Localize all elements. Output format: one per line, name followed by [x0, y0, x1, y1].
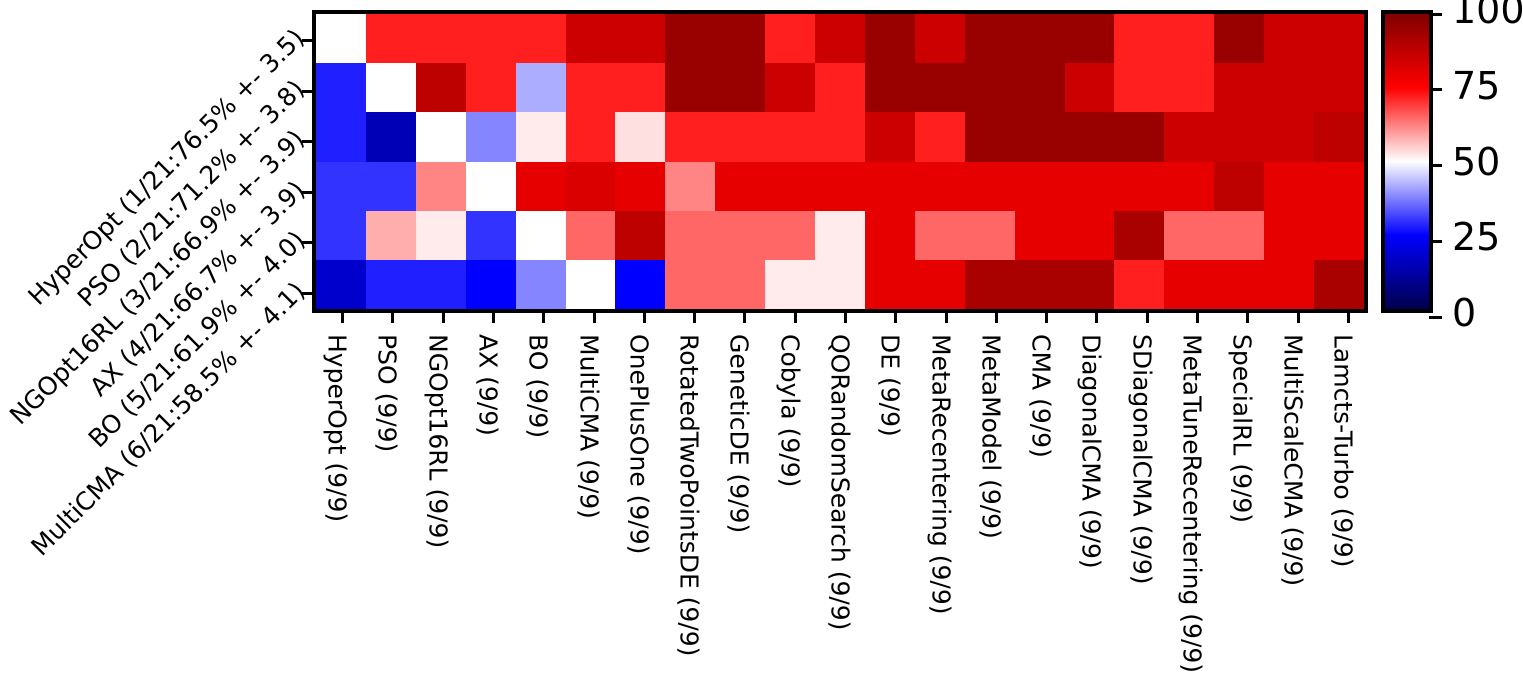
x-axis-tick-label: SpecialRL (9/9) — [1228, 334, 1257, 523]
x-axis-tick-label: OnePlusOne (9/9) — [624, 334, 653, 554]
y-axis-tick — [302, 241, 316, 244]
heatmap-cell — [665, 14, 715, 63]
heatmap-cell — [1164, 112, 1214, 161]
heatmap-cell — [965, 112, 1015, 161]
heatmap-cell — [615, 112, 665, 161]
heatmap-cell — [366, 63, 416, 112]
heatmap-cell — [865, 260, 915, 309]
heatmap-cell — [1314, 63, 1364, 112]
heatmap-cell — [965, 63, 1015, 112]
heatmap-cell — [1264, 112, 1314, 161]
heatmap-cell — [715, 63, 765, 112]
heatmap-cell — [765, 162, 815, 211]
heatmap-cell — [915, 211, 965, 260]
heatmap-cell — [715, 260, 765, 309]
colorbar-tick — [1429, 316, 1442, 319]
heatmap-cell — [1015, 112, 1065, 161]
x-axis-tick-label: DiagonalCMA (9/9) — [1077, 334, 1106, 569]
heatmap-cell — [815, 211, 865, 260]
heatmap-cell — [665, 63, 715, 112]
x-axis-tick-label: Cobyla (9/9) — [775, 334, 804, 487]
heatmap-cell — [1114, 162, 1164, 211]
heatmap-cell — [915, 260, 965, 309]
heatmap-cell — [316, 14, 366, 63]
colorbar-tick-label: 50 — [1452, 143, 1500, 181]
heatmap-cell — [316, 63, 366, 112]
heatmap-cell — [566, 162, 616, 211]
heatmap-cell — [1065, 260, 1115, 309]
y-axis-tick — [302, 191, 316, 194]
heatmap-cell — [366, 211, 416, 260]
heatmap-cell — [1065, 63, 1115, 112]
heatmap-cell — [466, 63, 516, 112]
colorbar-tick-label: 100 — [1452, 0, 1523, 29]
heatmap-cell — [615, 162, 665, 211]
heatmap-cell — [615, 260, 665, 309]
colorbar-tick-label: 0 — [1452, 294, 1476, 332]
heatmap-cell — [1314, 162, 1364, 211]
heatmap-cell — [815, 162, 865, 211]
heatmap-cell — [1015, 162, 1065, 211]
heatmap-cell — [466, 211, 516, 260]
y-axis-tick — [302, 90, 316, 93]
heatmap-cell — [965, 14, 1015, 63]
x-axis-tick-label: BO (9/9) — [524, 334, 553, 438]
heatmap-cell — [1065, 14, 1115, 63]
x-axis-tick-label: AX (9/9) — [474, 334, 503, 436]
heatmap-plot-area — [312, 10, 1368, 313]
heatmap-cell — [865, 63, 915, 112]
x-axis-tick-label: MultiScaleCMA (9/9) — [1278, 334, 1307, 586]
heatmap-cell — [1264, 211, 1314, 260]
heatmap-cell — [466, 112, 516, 161]
x-axis-tick-label: MetaTuneRecentering (9/9) — [1178, 334, 1207, 673]
heatmap-cell — [566, 14, 616, 63]
x-axis-tick-label: GeneticDE (9/9) — [725, 334, 754, 533]
heatmap-cell — [715, 112, 765, 161]
heatmap-cell — [815, 63, 865, 112]
colorbar-tick — [1429, 88, 1442, 91]
heatmap-cell — [1214, 211, 1264, 260]
x-axis-tick-label: MetaModel (9/9) — [976, 334, 1005, 539]
heatmap-cell — [1164, 14, 1214, 63]
x-axis-tick-label: CMA (9/9) — [1027, 334, 1056, 458]
heatmap-cell — [1264, 260, 1314, 309]
heatmap-cell — [1114, 14, 1164, 63]
heatmap-cell — [366, 112, 416, 161]
heatmap-cell — [1164, 260, 1214, 309]
heatmap-cell — [1114, 63, 1164, 112]
heatmap-cell — [1164, 211, 1214, 260]
heatmap-cell — [1164, 63, 1214, 112]
colorbar-tick-label: 75 — [1452, 67, 1500, 105]
heatmap-cell — [665, 162, 715, 211]
colorbar-tick — [1429, 13, 1442, 16]
heatmap-cell — [466, 14, 516, 63]
heatmap-cell — [765, 14, 815, 63]
heatmap-cell — [765, 63, 815, 112]
x-axis-tick-label: RotatedTwoPointsDE (9/9) — [675, 334, 704, 656]
heatmap-cell — [1065, 211, 1115, 260]
heatmap-cell — [615, 14, 665, 63]
heatmap-cell — [1264, 14, 1314, 63]
y-axis-labels: HyperOpt (1/21:76.5% +- 3.5)PSO (2/21:71… — [0, 0, 300, 323]
heatmap-cell — [1214, 14, 1264, 63]
heatmap-cell — [566, 211, 616, 260]
heatmap-cell — [1214, 162, 1264, 211]
heatmap-cell — [815, 14, 865, 63]
x-axis-tick-label: MetaRecentering (9/9) — [926, 334, 955, 614]
heatmap-cell — [965, 162, 1015, 211]
x-axis-tick-label: QORandomSearch (9/9) — [826, 334, 855, 630]
x-axis-tick-label: NGOpt16RL (9/9) — [423, 334, 452, 548]
heatmap-cell — [765, 112, 815, 161]
heatmap-cell — [915, 112, 965, 161]
y-axis-tick — [302, 39, 316, 42]
x-axis-tick-label: HyperOpt (9/9) — [323, 334, 352, 522]
heatmap-cell — [416, 211, 466, 260]
heatmap-cell — [715, 211, 765, 260]
heatmap-cell — [566, 260, 616, 309]
colorbar-tick — [1429, 164, 1442, 167]
heatmap-cell — [416, 63, 466, 112]
heatmap-cell — [1065, 162, 1115, 211]
heatmap-cell — [366, 162, 416, 211]
heatmap-cell — [1164, 162, 1214, 211]
heatmap-cell — [1264, 162, 1314, 211]
heatmap-grid — [316, 14, 1364, 309]
heatmap-cell — [416, 14, 466, 63]
y-axis-tick — [302, 140, 316, 143]
heatmap-cell — [316, 260, 366, 309]
heatmap-cell — [865, 14, 915, 63]
heatmap-cell — [865, 162, 915, 211]
heatmap-cell — [1015, 211, 1065, 260]
heatmap-cell — [316, 211, 366, 260]
heatmap-cell — [1015, 260, 1065, 309]
heatmap-cell — [665, 112, 715, 161]
heatmap-cell — [1314, 260, 1364, 309]
heatmap-cell — [1015, 14, 1065, 63]
x-axis-tick-label: PSO (9/9) — [373, 334, 402, 452]
heatmap-cell — [715, 14, 765, 63]
heatmap-cell — [1114, 260, 1164, 309]
heatmap-cell — [316, 162, 366, 211]
y-axis-tick — [302, 292, 316, 295]
heatmap-cell — [566, 112, 616, 161]
heatmap-cell — [715, 162, 765, 211]
heatmap-cell — [466, 260, 516, 309]
heatmap-cell — [516, 63, 566, 112]
heatmap-cell — [865, 211, 915, 260]
heatmap-cell — [765, 211, 815, 260]
heatmap-cell — [915, 63, 965, 112]
colorbar-tick — [1429, 240, 1442, 243]
x-axis-tick-label: MultiCMA (9/9) — [574, 334, 603, 519]
heatmap-cell — [516, 260, 566, 309]
heatmap-cell — [1314, 211, 1364, 260]
heatmap-cell — [1065, 112, 1115, 161]
heatmap-cell — [516, 14, 566, 63]
heatmap-cell — [366, 14, 416, 63]
heatmap-cell — [1214, 112, 1264, 161]
heatmap-cell — [516, 211, 566, 260]
heatmap-cell — [665, 211, 715, 260]
heatmap-cell — [416, 260, 466, 309]
heatmap-cell — [1015, 63, 1065, 112]
x-axis-tick-label: Lamcts-Turbo (9/9) — [1328, 334, 1357, 567]
heatmap-cell — [516, 112, 566, 161]
heatmap-cell — [1214, 63, 1264, 112]
heatmap-cell — [466, 162, 516, 211]
heatmap-cell — [765, 260, 815, 309]
colorbar-tick-label: 25 — [1452, 218, 1500, 256]
heatmap-cell — [316, 112, 366, 161]
heatmap-cell — [1114, 112, 1164, 161]
heatmap-cell — [915, 14, 965, 63]
heatmap-cell — [366, 260, 416, 309]
heatmap-cell — [416, 112, 466, 161]
heatmap-figure: HyperOpt (1/21:76.5% +- 3.5)PSO (2/21:71… — [0, 0, 1523, 665]
heatmap-cell — [566, 63, 616, 112]
heatmap-cell — [915, 162, 965, 211]
heatmap-cell — [1114, 211, 1164, 260]
heatmap-cell — [865, 112, 915, 161]
heatmap-cell — [1314, 14, 1364, 63]
x-axis-tick-label: DE (9/9) — [876, 334, 905, 437]
colorbar — [1381, 10, 1433, 313]
heatmap-cell — [1264, 63, 1314, 112]
heatmap-cell — [665, 260, 715, 309]
colorbar-gradient — [1385, 14, 1429, 309]
heatmap-cell — [965, 260, 1015, 309]
heatmap-cell — [615, 211, 665, 260]
x-axis-tick-label: SDiagonalCMA (9/9) — [1127, 334, 1156, 584]
heatmap-cell — [615, 63, 665, 112]
heatmap-cell — [416, 162, 466, 211]
heatmap-cell — [1214, 260, 1264, 309]
heatmap-cell — [815, 260, 865, 309]
heatmap-cell — [516, 162, 566, 211]
heatmap-cell — [1314, 112, 1364, 161]
heatmap-cell — [815, 112, 865, 161]
x-axis-labels: HyperOpt (9/9)PSO (9/9)NGOpt16RL (9/9)AX… — [312, 320, 1368, 665]
heatmap-cell — [965, 211, 1015, 260]
